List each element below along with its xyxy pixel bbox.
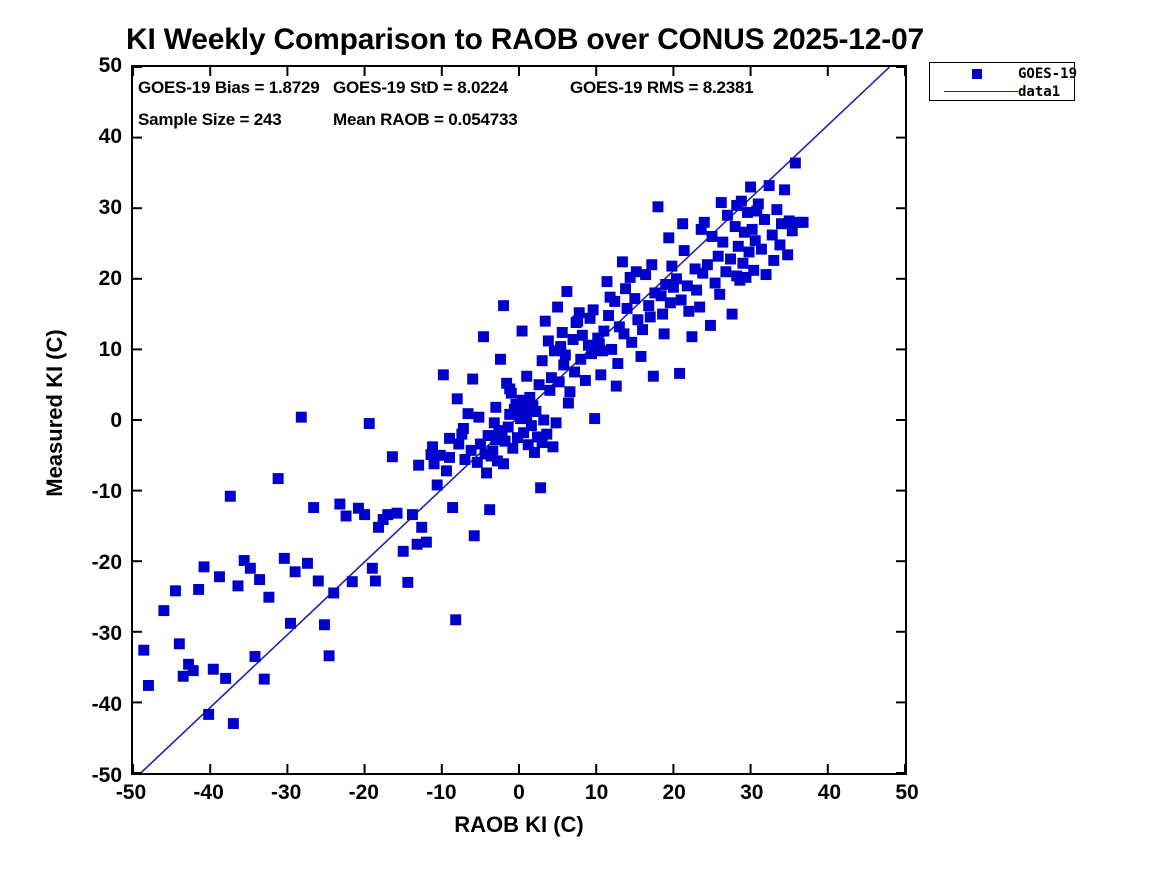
scatter-point — [577, 330, 588, 341]
scatter-point — [158, 605, 169, 616]
x-tick-label: -10 — [406, 782, 476, 803]
scatter-point — [438, 369, 449, 380]
scatter-point — [782, 249, 793, 260]
scatter-point — [748, 265, 759, 276]
scatter-point — [450, 614, 461, 625]
scatter-point — [481, 467, 492, 478]
scatter-point — [473, 412, 484, 423]
scatter-point — [526, 420, 537, 431]
scatter-point — [463, 408, 474, 419]
x-tick-label: 0 — [484, 782, 554, 803]
scatter-point — [686, 331, 697, 342]
scatter-point — [273, 473, 284, 484]
scatter-point — [452, 393, 463, 404]
scatter-point — [580, 375, 591, 386]
scatter-point — [716, 197, 727, 208]
scatter-point — [552, 302, 563, 313]
scatter-point — [790, 158, 801, 169]
scatter-point — [495, 354, 506, 365]
scatter-point — [674, 368, 685, 379]
scatter-point — [469, 530, 480, 541]
scatter-point — [629, 293, 640, 304]
scatter-point — [611, 381, 622, 392]
scatter-point — [632, 314, 643, 325]
legend-square-marker-icon — [972, 69, 982, 79]
scatter-point — [245, 563, 256, 574]
scatter-point — [259, 674, 270, 685]
y-tick-label: 50 — [99, 55, 122, 76]
scatter-point — [702, 259, 713, 270]
scatter-point — [679, 245, 690, 256]
scatter-point — [208, 664, 219, 675]
scatter-point — [761, 269, 772, 280]
scatter-point — [572, 316, 583, 327]
scatter-point — [402, 577, 413, 588]
scatter-point — [727, 309, 738, 320]
legend-marker-swatch — [938, 64, 1016, 83]
scatter-point — [537, 355, 548, 366]
scatter-point — [631, 266, 642, 277]
scatter-point — [398, 546, 409, 557]
scatter-point — [557, 327, 568, 338]
scatter-point — [645, 311, 656, 322]
scatter-point — [538, 415, 549, 426]
legend-entry-data1: data1 — [930, 82, 1074, 101]
scatter-point — [595, 369, 606, 380]
scatter-point — [285, 618, 296, 629]
scatter-point — [677, 218, 688, 229]
scatter-point — [663, 232, 674, 243]
scatter-point — [367, 563, 378, 574]
scatter-point — [214, 571, 225, 582]
scatter-point — [725, 254, 736, 265]
scatter-point — [620, 283, 631, 294]
scatter-point — [606, 344, 617, 355]
scatter-point — [707, 231, 718, 242]
scatter-points-series — [138, 158, 808, 730]
scatter-point — [203, 709, 214, 720]
scatter-point — [744, 247, 755, 258]
scatter-point — [554, 376, 565, 387]
scatter-point — [569, 367, 580, 378]
annotation-rms: GOES-19 RMS = 8.2381 — [570, 78, 754, 98]
scatter-point — [605, 292, 616, 303]
x-tick-label: 20 — [639, 782, 709, 803]
scatter-point — [432, 479, 443, 490]
scatter-point — [737, 258, 748, 269]
scatter-point — [225, 491, 236, 502]
scatter-point — [666, 261, 677, 272]
legend: GOES-19 data1 — [929, 62, 1075, 101]
scatter-point — [665, 297, 676, 308]
scatter-point — [199, 561, 210, 572]
legend-line-swatch — [938, 82, 1016, 101]
scatter-point — [421, 537, 432, 548]
scatter-point — [444, 433, 455, 444]
scatter-point — [250, 651, 261, 662]
scatter-point — [612, 358, 623, 369]
x-tick-label: -50 — [96, 782, 166, 803]
scatter-point — [588, 304, 599, 315]
scatter-point — [774, 239, 785, 250]
y-tick-label: 40 — [99, 126, 122, 147]
scatter-point — [296, 412, 307, 423]
scatter-point — [478, 331, 489, 342]
scatter-point — [637, 324, 648, 335]
scatter-point — [498, 458, 509, 469]
scatter-point — [370, 575, 381, 586]
scatter-point — [622, 303, 633, 314]
legend-label-goes19: GOES-19 — [1018, 66, 1077, 82]
scatter-point — [504, 383, 515, 394]
annotation-sample-size: Sample Size = 243 — [138, 110, 282, 130]
scatter-point — [764, 180, 775, 191]
y-tick-label: 30 — [99, 197, 122, 218]
scatter-point — [334, 499, 345, 510]
scatter-point — [756, 244, 767, 255]
scatter-point — [193, 584, 204, 595]
scatter-point — [564, 386, 575, 397]
scatter-point — [319, 619, 330, 630]
scatter-point — [534, 379, 545, 390]
scatter-point — [541, 429, 552, 440]
legend-entry-goes19: GOES-19 — [930, 64, 1074, 83]
scatter-point — [507, 443, 518, 454]
scatter-point — [659, 328, 670, 339]
x-tick-label: -40 — [174, 782, 244, 803]
scatter-point — [710, 278, 721, 289]
scatter-point — [657, 309, 668, 320]
plot-area — [131, 65, 907, 775]
x-axis-tick-labels: -50-40-30-20-1001020304050 — [131, 782, 907, 812]
scatter-point — [447, 502, 458, 513]
scatter-point — [484, 504, 495, 515]
scatter-point — [458, 423, 469, 434]
scatter-point — [683, 306, 694, 317]
scatter-point — [558, 359, 569, 370]
scatter-point — [767, 230, 778, 241]
scatter-point — [652, 201, 663, 212]
scatter-point — [561, 286, 572, 297]
y-tick-label: 0 — [110, 410, 122, 431]
scatter-point — [174, 638, 185, 649]
y-tick-label: 20 — [99, 268, 122, 289]
y-tick-label: -20 — [92, 552, 122, 573]
scatter-point — [771, 204, 782, 215]
scatter-point — [575, 354, 586, 365]
scatter-point — [444, 452, 455, 463]
scatter-point — [751, 206, 762, 217]
scatter-point — [279, 553, 290, 564]
scatter-point — [328, 588, 339, 599]
scatter-point — [671, 273, 682, 284]
scatter-point — [143, 680, 154, 691]
scatter-point — [626, 337, 637, 348]
scatter-point — [490, 402, 501, 413]
scatter-point — [798, 217, 809, 228]
scatter-point — [503, 422, 514, 433]
scatter-point — [731, 200, 742, 211]
x-tick-label: 30 — [717, 782, 787, 803]
scatter-point — [603, 310, 614, 321]
scatter-point — [551, 417, 562, 428]
scatter-canvas — [133, 67, 905, 773]
scatter-point — [521, 371, 532, 382]
scatter-point — [254, 574, 265, 585]
scatter-point — [441, 465, 452, 476]
annotation-mean-raob: Mean RAOB = 0.054733 — [333, 110, 518, 130]
scatter-point — [768, 255, 779, 266]
scatter-point — [563, 398, 574, 409]
scatter-point — [170, 585, 181, 596]
scatter-point — [498, 300, 509, 311]
scatter-point — [220, 673, 231, 684]
annotation-bias: GOES-19 Bias = 1.8729 — [138, 78, 320, 98]
scatter-point — [691, 285, 702, 296]
x-tick-label: 50 — [872, 782, 942, 803]
scatter-point — [263, 592, 274, 603]
scatter-point — [364, 418, 375, 429]
scatter-point — [720, 266, 731, 277]
scatter-point — [560, 350, 571, 361]
scatter-point — [387, 451, 398, 462]
scatter-point — [233, 580, 244, 591]
scatter-point — [648, 371, 659, 382]
scatter-point — [643, 300, 654, 311]
y-axis-label: Measured KI (C) — [42, 298, 68, 528]
x-axis-label: RAOB KI (C) — [131, 812, 907, 838]
scatter-point — [696, 224, 707, 235]
x-tick-label: -30 — [251, 782, 321, 803]
y-tick-label: -40 — [92, 694, 122, 715]
scatter-point — [636, 351, 647, 362]
x-tick-label: 40 — [794, 782, 864, 803]
x-tick-label: -20 — [329, 782, 399, 803]
scatter-point — [413, 460, 424, 471]
scatter-point — [713, 251, 724, 262]
scatter-point — [733, 241, 744, 252]
scatter-point — [529, 447, 540, 458]
scatter-point — [745, 182, 756, 193]
scatter-point — [646, 259, 657, 270]
chart-figure: KI Weekly Comparison to RAOB over CONUS … — [0, 0, 1167, 875]
scatter-point — [188, 665, 199, 676]
scatter-point — [705, 320, 716, 331]
scatter-point — [722, 210, 733, 221]
scatter-point — [341, 511, 352, 522]
scatter-point — [467, 374, 478, 385]
scatter-point — [347, 576, 358, 587]
scatter-point — [543, 335, 554, 346]
scatter-point — [416, 522, 427, 533]
scatter-point — [407, 509, 418, 520]
scatter-point — [547, 441, 558, 452]
scatter-point — [324, 650, 335, 661]
scatter-point — [228, 718, 239, 729]
legend-line-icon — [944, 91, 1018, 92]
scatter-point — [178, 671, 189, 682]
y-tick-label: 10 — [99, 339, 122, 360]
scatter-point — [694, 302, 705, 313]
scatter-point — [427, 441, 438, 452]
scatter-point — [138, 645, 149, 656]
scatter-point — [589, 413, 600, 424]
y-tick-label: -10 — [92, 481, 122, 502]
scatter-point — [290, 566, 301, 577]
scatter-point — [302, 558, 313, 569]
legend-label-data1: data1 — [1018, 84, 1060, 100]
scatter-point — [313, 575, 324, 586]
scatter-point — [717, 237, 728, 248]
scatter-point — [617, 256, 628, 267]
scatter-point — [714, 289, 725, 300]
scatter-point — [535, 482, 546, 493]
scatter-point — [602, 276, 613, 287]
x-tick-label: 10 — [562, 782, 632, 803]
scatter-point — [392, 508, 403, 519]
scatter-point — [598, 326, 609, 337]
scatter-point — [487, 446, 498, 457]
scatter-point — [779, 184, 790, 195]
scatter-point — [747, 224, 758, 235]
scatter-point — [517, 326, 528, 337]
scatter-point — [540, 316, 551, 327]
chart-title: KI Weekly Comparison to RAOB over CONUS … — [0, 23, 1050, 57]
scatter-point — [359, 509, 370, 520]
annotation-std: GOES-19 StD = 8.0224 — [333, 78, 508, 98]
scatter-point — [676, 295, 687, 306]
y-tick-label: -30 — [92, 623, 122, 644]
scatter-point — [308, 502, 319, 513]
